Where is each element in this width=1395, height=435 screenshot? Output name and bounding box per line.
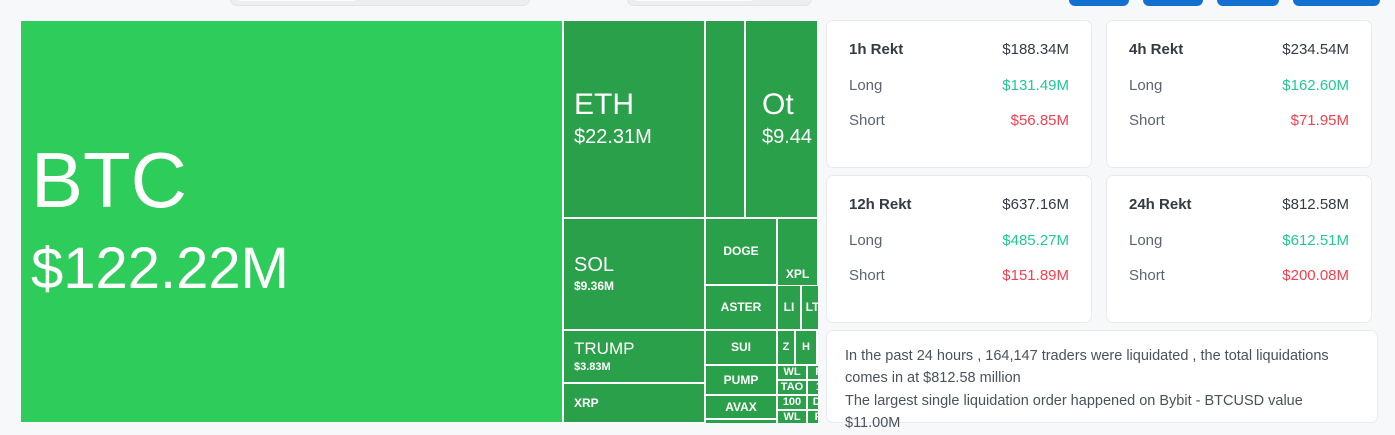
- tile-symbol: FF: [815, 367, 818, 379]
- summary-line-2: The largest single liquidation order hap…: [845, 390, 1359, 435]
- treemap-tile-zec[interactable]: Z: [777, 330, 795, 365]
- tile-symbol: WL: [783, 367, 800, 379]
- liquidation-dashboard: BTC $122.22M ETH $22.31M SOL $9.36M TRUM…: [0, 0, 1395, 423]
- card-total: $188.34M: [1002, 41, 1069, 58]
- long-value: $162.60M: [1282, 77, 1349, 94]
- range-1h-button[interactable]: [1069, 0, 1129, 6]
- liquidation-summary: In the past 24 hours , 164,147 traders w…: [826, 330, 1378, 423]
- short-label: Short: [1129, 112, 1165, 129]
- treemap-tile-wlfi-1[interactable]: WL: [777, 365, 807, 380]
- long-label: Long: [1129, 77, 1162, 94]
- tile-symbol: PE: [815, 412, 818, 423]
- treemap-tile-sui[interactable]: SUI: [705, 330, 777, 365]
- card-short-row: Short $151.89M: [849, 267, 1069, 284]
- treemap-tile-1000-b[interactable]: 100: [777, 395, 807, 410]
- tile-symbol: Z: [783, 342, 790, 354]
- card-title: 24h Rekt: [1129, 196, 1192, 213]
- treemap-tile-sol[interactable]: SOL $9.36M: [563, 218, 705, 330]
- tile-symbol: ETH: [574, 89, 704, 121]
- long-value: $612.51M: [1282, 232, 1349, 249]
- tile-symbol: DOGE: [723, 245, 758, 258]
- tile-symbol: Ot: [762, 89, 817, 121]
- tile-symbol: TAO: [781, 382, 803, 394]
- treemap-tile-aster[interactable]: ASTER: [705, 285, 777, 330]
- tile-symbol: SOL: [574, 255, 704, 276]
- card-long-row: Long $131.49M: [849, 77, 1069, 94]
- treemap-tile-hype[interactable]: H: [795, 330, 817, 365]
- treemap-tile-pump[interactable]: PUMP: [705, 365, 777, 395]
- treemap-tile-f[interactable]: F: [817, 330, 818, 365]
- tile-value: $22.31M: [574, 126, 704, 149]
- timeframe-select-value: [634, 0, 754, 1]
- short-label: Short: [849, 267, 885, 284]
- tile-symbol: 10: [816, 382, 818, 394]
- range-12h-button[interactable]: [1217, 0, 1279, 6]
- long-value: $485.27M: [1002, 232, 1069, 249]
- tile-value: $3.83M: [574, 361, 704, 374]
- treemap-tile-dot[interactable]: DO: [807, 395, 818, 410]
- range-4h-button[interactable]: [1143, 0, 1203, 6]
- card-header-row: 12h Rekt $637.16M: [849, 196, 1069, 213]
- short-value: $71.95M: [1291, 112, 1349, 129]
- treemap-tile-pepe[interactable]: PE: [807, 410, 818, 423]
- card-total: $812.58M: [1282, 196, 1349, 213]
- treemap-tile-xrp[interactable]: XRP: [563, 383, 705, 423]
- tile-value: $9.44: [762, 126, 817, 149]
- tile-symbol: TRUMP: [574, 340, 704, 358]
- treemap-tile-eth[interactable]: ETH $22.31M: [563, 20, 705, 218]
- tile-symbol: ASTER: [721, 301, 762, 314]
- tile-symbol: PUMP: [724, 374, 759, 387]
- card-title: 4h Rekt: [1129, 41, 1183, 58]
- short-value: $56.85M: [1011, 112, 1069, 129]
- treemap-tile-trump[interactable]: TRUMP $3.83M: [563, 330, 705, 383]
- treemap-tile-wlfi-2[interactable]: WL: [777, 410, 807, 423]
- summary-line-1: In the past 24 hours , 164,147 traders w…: [845, 345, 1359, 390]
- long-label: Long: [849, 232, 882, 249]
- exchange-select-value: [237, 0, 357, 1]
- treemap-tile-unlabeled[interactable]: [705, 20, 745, 218]
- tile-symbol: WL: [783, 412, 800, 423]
- tile-symbol: AVAX: [725, 401, 757, 414]
- tile-value: $9.36M: [574, 280, 704, 294]
- tile-symbol: BTC: [31, 140, 562, 222]
- tile-value: $122.22M: [31, 236, 562, 303]
- tile-symbol: XPL: [786, 268, 809, 281]
- long-label: Long: [1129, 232, 1162, 249]
- treemap-tile-btc[interactable]: BTC $122.22M: [20, 20, 563, 423]
- card-short-row: Short $71.95M: [1129, 112, 1349, 129]
- card-header-row: 24h Rekt $812.58M: [1129, 196, 1349, 213]
- short-value: $151.89M: [1002, 267, 1069, 284]
- rekt-card-4h: 4h Rekt $234.54M Long $162.60M Short $71…: [1106, 20, 1372, 168]
- exchange-select[interactable]: [230, 0, 530, 6]
- rekt-card-1h: 1h Rekt $188.34M Long $131.49M Short $56…: [826, 20, 1092, 168]
- tile-symbol: 100: [783, 397, 801, 409]
- treemap-tile-ltc[interactable]: LT: [801, 285, 818, 330]
- card-header-row: 1h Rekt $188.34M: [849, 41, 1069, 58]
- treemap-tile-tao[interactable]: TAO: [777, 380, 807, 395]
- card-long-row: Long $485.27M: [849, 232, 1069, 249]
- rekt-card-24h: 24h Rekt $812.58M Long $612.51M Short $2…: [1106, 175, 1372, 323]
- card-total: $234.54M: [1282, 41, 1349, 58]
- treemap-tile-link[interactable]: LI: [777, 285, 801, 330]
- card-total: $637.16M: [1002, 196, 1069, 213]
- card-title: 1h Rekt: [849, 41, 903, 58]
- short-value: $200.08M: [1282, 267, 1349, 284]
- treemap-tile-1000-a[interactable]: 10: [807, 380, 818, 395]
- tile-symbol: LT: [806, 301, 818, 314]
- card-short-row: Short $200.08M: [1129, 267, 1349, 284]
- card-long-row: Long $612.51M: [1129, 232, 1349, 249]
- range-24h-button[interactable]: [1293, 0, 1380, 6]
- rekt-card-12h: 12h Rekt $637.16M Long $485.27M Short $1…: [826, 175, 1092, 323]
- tile-symbol: H: [802, 342, 810, 354]
- card-header-row: 4h Rekt $234.54M: [1129, 41, 1349, 58]
- treemap-tile-avax[interactable]: AVAX: [705, 395, 777, 419]
- long-label: Long: [849, 77, 882, 94]
- long-value: $131.49M: [1002, 77, 1069, 94]
- card-short-row: Short $56.85M: [849, 112, 1069, 129]
- card-long-row: Long $162.60M: [1129, 77, 1349, 94]
- toolbar: [0, 0, 1395, 20]
- tile-symbol: XRP: [574, 397, 704, 410]
- treemap-tile-doge[interactable]: DOGE: [705, 218, 777, 285]
- tile-symbol: LI: [784, 301, 795, 314]
- liquidation-treemap[interactable]: BTC $122.22M ETH $22.31M SOL $9.36M TRUM…: [20, 20, 818, 423]
- treemap-tile-others[interactable]: Ot $9.44: [745, 20, 818, 218]
- short-label: Short: [849, 112, 885, 129]
- card-title: 12h Rekt: [849, 196, 912, 213]
- timeframe-select[interactable]: [627, 0, 812, 6]
- tile-symbol: SUI: [731, 341, 751, 354]
- treemap-tile-bnb[interactable]: BNB: [705, 419, 777, 423]
- treemap-tile-ff[interactable]: FF: [807, 365, 818, 380]
- short-label: Short: [1129, 267, 1165, 284]
- tile-symbol: DO: [813, 397, 818, 409]
